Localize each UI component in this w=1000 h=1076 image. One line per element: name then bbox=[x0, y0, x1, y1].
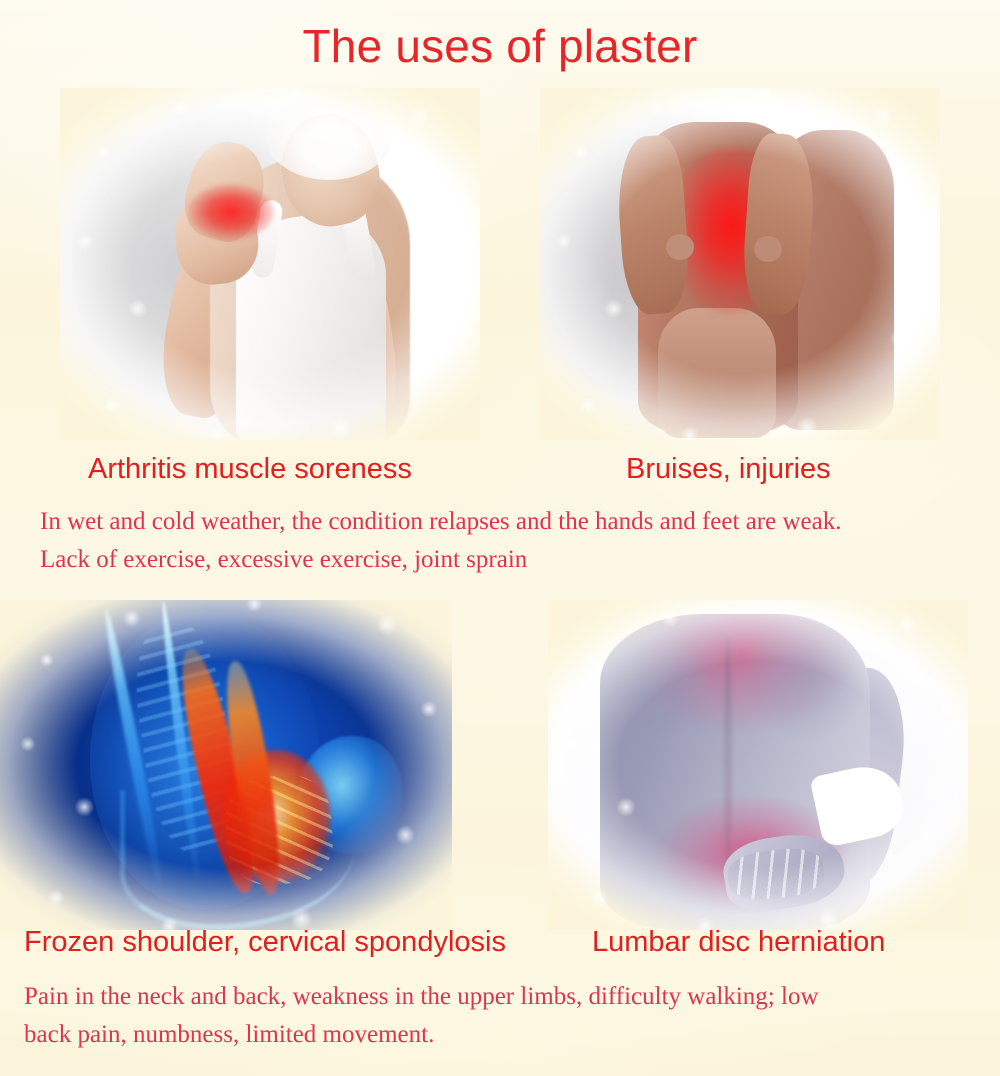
paragraph-bottom-line-2: back pain, numbness, limited movement. bbox=[24, 1016, 974, 1054]
page-title: The uses of plaster bbox=[0, 16, 1000, 76]
paragraph-top: In wet and cold weather, the condition r… bbox=[40, 503, 970, 579]
paragraph-bottom: Pain in the neck and back, weakness in t… bbox=[24, 978, 974, 1054]
knee-shin bbox=[658, 308, 776, 438]
paragraph-top-line-1: In wet and cold weather, the condition r… bbox=[40, 503, 970, 541]
wrist-pain-glow-icon bbox=[188, 184, 274, 240]
wrist-photo-content bbox=[60, 88, 480, 440]
back-right-shoulder bbox=[744, 622, 866, 740]
knee-left-thumb bbox=[666, 234, 694, 260]
paragraph-bottom-line-1: Pain in the neck and back, weakness in t… bbox=[24, 978, 974, 1016]
wrist-hair bbox=[266, 94, 392, 180]
back-left-shoulder bbox=[602, 630, 710, 740]
caption-frozen-shoulder: Frozen shoulder, cervical spondylosis bbox=[24, 923, 506, 961]
knee-right-thumb bbox=[754, 236, 782, 262]
paragraph-top-line-2: Lack of exercise, excessive exercise, jo… bbox=[40, 541, 970, 579]
image-frozen-shoulder-xray bbox=[0, 600, 452, 930]
image-arthritis-wrist bbox=[60, 88, 480, 440]
shoulder-photo-content bbox=[0, 600, 452, 930]
image-bruises-knee bbox=[540, 88, 940, 440]
caption-arthritis-muscle-soreness: Arthritis muscle soreness bbox=[88, 450, 412, 488]
caption-lumbar-disc-herniation: Lumbar disc herniation bbox=[592, 923, 885, 961]
plaster-uses-poster: The uses of plaster bbox=[0, 0, 1000, 1076]
back-photo-content bbox=[548, 600, 968, 930]
knee-photo-content bbox=[540, 88, 940, 440]
image-lumbar-back bbox=[548, 600, 968, 930]
caption-bruises-injuries: Bruises, injuries bbox=[626, 450, 831, 488]
